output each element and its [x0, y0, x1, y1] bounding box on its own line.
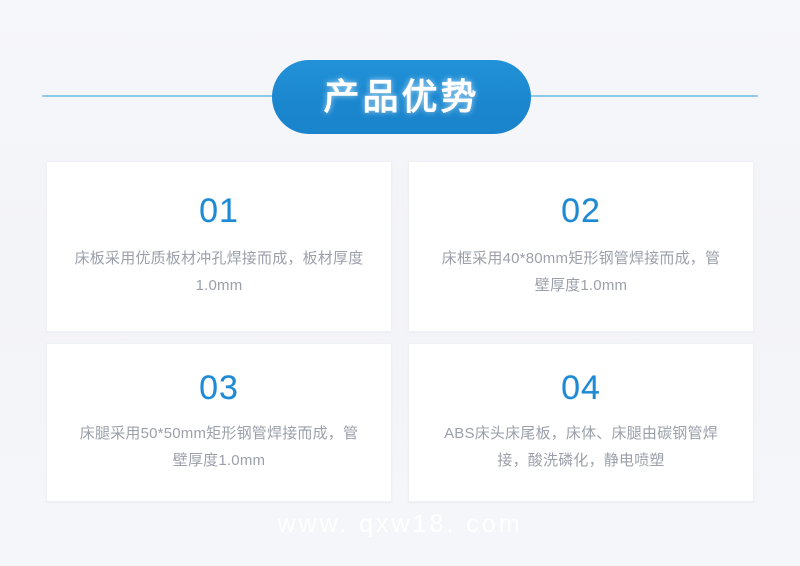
site-watermark: www. qxw18. com [0, 500, 800, 548]
page-title: 产品优势 [323, 79, 479, 115]
advantage-card-02: 02 床框采用40*80mm矩形钢管焊接而成，管壁厚度1.0mm [408, 161, 754, 332]
card-description-02: 床框采用40*80mm矩形钢管焊接而成，管壁厚度1.0mm [435, 245, 727, 299]
advantage-card-grid: 01 床板采用优质板材冲孔焊接而成，板材厚度1.0mm 02 床框采用40*80… [46, 161, 754, 502]
watermark-text: www. qxw18. com [277, 510, 522, 539]
card-description-04: ABS床头床尾板，床体、床腿由碳钢管焊接，酸洗磷化，静电喷塑 [435, 420, 727, 474]
card-description-03: 床腿采用50*50mm矩形钢管焊接而成，管壁厚度1.0mm [73, 420, 365, 474]
page-title-pill: 产品优势 [272, 60, 531, 134]
advantage-card-04: 04 ABS床头床尾板，床体、床腿由碳钢管焊接，酸洗磷化，静电喷塑 [408, 343, 754, 502]
card-number-04: 04 [561, 371, 601, 405]
product-advantages-page: 产品优势 01 床板采用优质板材冲孔焊接而成，板材厚度1.0mm 02 床框采用… [0, 0, 800, 566]
advantage-card-01: 01 床板采用优质板材冲孔焊接而成，板材厚度1.0mm [46, 161, 392, 332]
card-description-01: 床板采用优质板材冲孔焊接而成，板材厚度1.0mm [73, 245, 365, 299]
advantage-card-03: 03 床腿采用50*50mm矩形钢管焊接而成，管壁厚度1.0mm [46, 343, 392, 502]
header-banner: 产品优势 [0, 52, 800, 140]
card-number-03: 03 [199, 371, 239, 405]
card-number-02: 02 [561, 194, 601, 228]
card-number-01: 01 [199, 194, 239, 228]
